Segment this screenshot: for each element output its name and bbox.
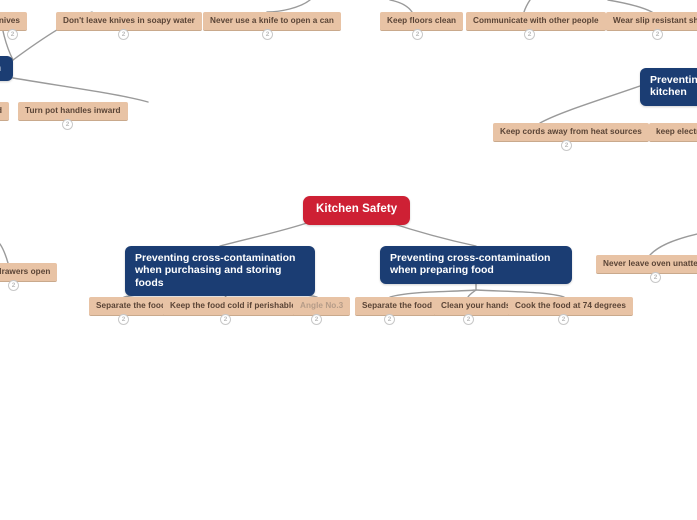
leaf-angle-no3-badge[interactable]: 2 [311, 314, 322, 325]
leaf-cook-74-degrees[interactable]: Cook the food at 74 degrees [508, 297, 633, 316]
branch-knife-safety[interactable]: tchen [0, 56, 13, 81]
edge-elec-to-cords [540, 86, 640, 123]
leaf-keep-floors-clean-badge[interactable]: 2 [412, 29, 423, 40]
leaf-knife-open-can[interactable]: Never use a knife to open a can [203, 12, 341, 31]
leaf-knives-soapy-water-badge[interactable]: 2 [118, 29, 129, 40]
branch-purchasing-storing[interactable]: Preventing cross-contamination when purc… [125, 246, 315, 296]
leaf-separate-food-right-badge[interactable]: 2 [384, 314, 395, 325]
edge-drawers-up [0, 244, 8, 263]
edge-floors-up [390, 0, 412, 12]
leaf-knives-soapy-water[interactable]: Don't leave knives in soapy water [56, 12, 202, 31]
edge-shoes-up [608, 0, 652, 12]
edge-preparing-to-clean [468, 290, 476, 297]
leaf-separate-food-right[interactable]: Separate the food [355, 297, 439, 316]
edge-root-to-preparing [388, 222, 476, 246]
edge-knife-to-can [267, 0, 310, 12]
edge-root-to-purchasing [220, 222, 310, 246]
leaf-communicate[interactable]: Communicate with other people [466, 12, 606, 31]
edge-knife-to-pot [13, 78, 148, 102]
leaf-turn-pot-handles-badge[interactable]: 2 [62, 119, 73, 130]
leaf-drawers-open-badge[interactable]: 2 [8, 280, 19, 291]
leaf-turn-pot-handles[interactable]: Turn pot handles inward [18, 102, 128, 121]
leaf-knife-open-can-badge[interactable]: 2 [262, 29, 273, 40]
leaf-pot-handles-partial[interactable]: d [0, 102, 9, 121]
leaf-sharp-knives[interactable]: arp knives [0, 12, 27, 31]
leaf-slip-resistant-shoes-badge[interactable]: 2 [652, 29, 663, 40]
edge-layer [0, 0, 697, 520]
leaf-drawers-open[interactable]: ve drawers open [0, 263, 57, 282]
leaf-keep-electrical[interactable]: keep electri [649, 123, 697, 142]
leaf-cords-heat-sources-badge[interactable]: 2 [561, 140, 572, 151]
leaf-separate-food-left-badge[interactable]: 2 [118, 314, 129, 325]
leaf-oven-unattended[interactable]: Never leave oven unatten [596, 255, 697, 274]
mindmap-canvas[interactable]: Kitchen SafetytchenPreventing kitchenPre… [0, 0, 697, 520]
root-node[interactable]: Kitchen Safety [303, 196, 410, 225]
leaf-oven-unattended-badge[interactable]: 2 [650, 272, 661, 283]
leaf-cook-74-degrees-badge[interactable]: 2 [558, 314, 569, 325]
branch-preparing-food[interactable]: Preventing cross-contamination when prep… [380, 246, 572, 284]
leaf-clean-your-hands-badge[interactable]: 2 [463, 314, 474, 325]
edge-oven-up [650, 234, 697, 255]
leaf-slip-resistant-shoes[interactable]: Wear slip resistant sho [606, 12, 697, 31]
leaf-clean-your-hands[interactable]: Clean your hands [434, 297, 518, 316]
edge-preparing-to-cook [476, 290, 564, 297]
leaf-sharp-knives-badge[interactable]: 2 [7, 29, 18, 40]
leaf-food-cold[interactable]: Keep the food cold if perishable [163, 297, 303, 316]
leaf-cords-heat-sources[interactable]: Keep cords away from heat sources [493, 123, 649, 142]
leaf-communicate-badge[interactable]: 2 [524, 29, 535, 40]
leaf-keep-floors-clean[interactable]: Keep floors clean [380, 12, 463, 31]
edge-communicate-up [524, 0, 530, 12]
leaf-angle-no3[interactable]: Angle No.3 [293, 297, 350, 316]
leaf-food-cold-badge[interactable]: 2 [220, 314, 231, 325]
leaf-separate-food-left[interactable]: Separate the food [89, 297, 173, 316]
branch-electrical-kitchen[interactable]: Preventing kitchen [640, 68, 697, 106]
